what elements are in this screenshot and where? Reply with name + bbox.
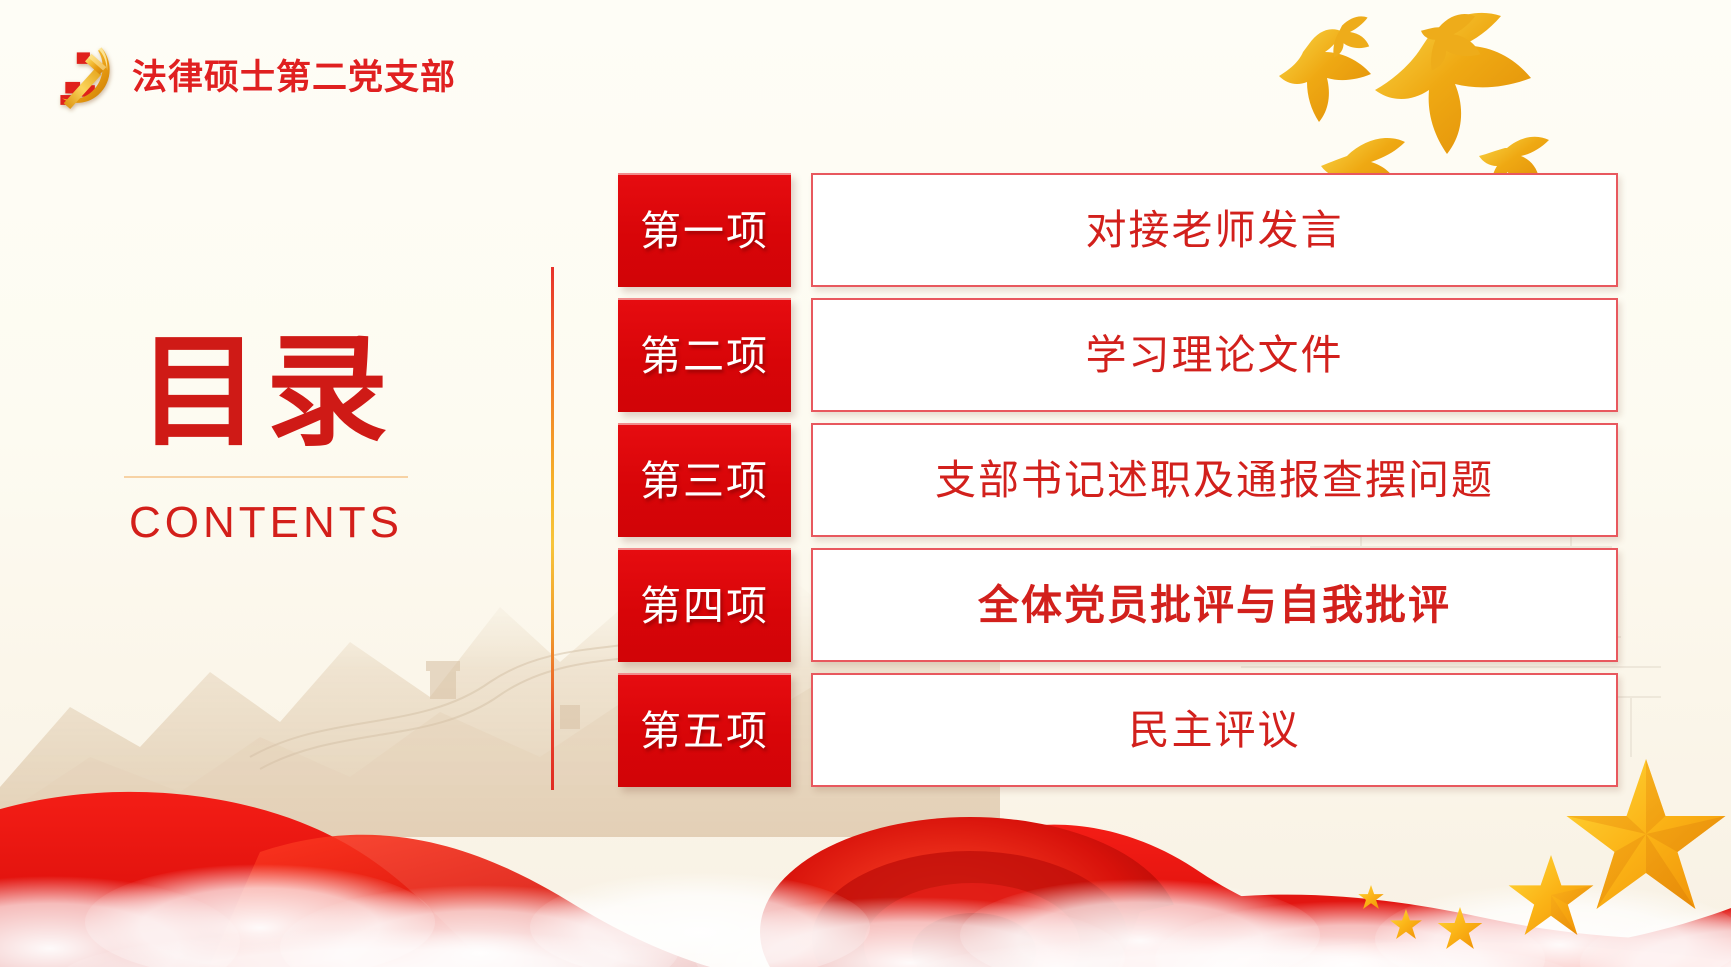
contents-title-box-4[interactable]: 全体党员批评与自我批评 — [811, 548, 1618, 662]
row-spacer — [618, 412, 1618, 423]
contents-title-label-2: 学习理论文件 — [1086, 335, 1344, 376]
contents-row-3[interactable]: 第三项 支部书记述职及通报查摆问题 — [618, 423, 1618, 537]
contents-row-5[interactable]: 第五项 民主评议 — [618, 673, 1618, 787]
title-divider-rule — [124, 476, 408, 478]
row-gap — [791, 423, 811, 537]
contents-index-label-3: 第三项 — [640, 461, 769, 502]
page-title-cn: 目录 — [116, 330, 416, 454]
contents-title-box-3[interactable]: 支部书记述职及通报查摆问题 — [811, 423, 1618, 537]
flying-doves-small-icon — [1326, 0, 1516, 80]
page-title-en: CONTENTS — [116, 498, 416, 548]
contents-index-label-4: 第四项 — [640, 586, 769, 627]
contents-row-1[interactable]: 第一项 对接老师发言 — [618, 173, 1618, 287]
contents-index-label-5: 第五项 — [640, 711, 769, 752]
row-gap — [791, 548, 811, 662]
contents-title-box-5[interactable]: 民主评议 — [811, 673, 1618, 787]
contents-title-box-1[interactable]: 对接老师发言 — [811, 173, 1618, 287]
contents-row-4[interactable]: 第四项 全体党员批评与自我批评 — [618, 548, 1618, 662]
row-gap — [791, 298, 811, 412]
brand-logo: 法律硕士第二党支部 — [44, 36, 456, 118]
contents-title-label-5: 民主评议 — [1129, 710, 1301, 751]
contents-title-label-1: 对接老师发言 — [1086, 210, 1344, 251]
contents-index-badge-3[interactable]: 第三项 — [618, 423, 791, 537]
row-gap — [791, 173, 811, 287]
contents-index-badge-4[interactable]: 第四项 — [618, 548, 791, 662]
row-spacer — [618, 537, 1618, 548]
contents-title-box-2[interactable]: 学习理论文件 — [811, 298, 1618, 412]
contents-title-label-4: 全体党员批评与自我批评 — [978, 585, 1451, 626]
slide-canvas: 法律硕士第二党支部 目录 CONTENTS 第一项 对接老师发言 第二项 学习理… — [0, 0, 1731, 967]
page-title-block: 目录 CONTENTS — [116, 330, 416, 548]
contents-list: 第一项 对接老师发言 第二项 学习理论文件 第三项 支部书记述职及通报查摆 — [618, 173, 1618, 787]
contents-index-label-2: 第二项 — [640, 336, 769, 377]
row-spacer — [618, 287, 1618, 298]
contents-index-badge-1[interactable]: 第一项 — [618, 173, 791, 287]
contents-index-badge-2[interactable]: 第二项 — [618, 298, 791, 412]
contents-index-badge-5[interactable]: 第五项 — [618, 673, 791, 787]
row-spacer — [618, 662, 1618, 673]
org-name: 法律硕士第二党支部 — [132, 60, 456, 95]
contents-index-label-1: 第一项 — [640, 211, 769, 252]
vertical-gradient-divider-icon — [551, 267, 554, 790]
contents-title-label-3: 支部书记述职及通报查摆问题 — [935, 460, 1494, 501]
contents-row-2[interactable]: 第二项 学习理论文件 — [618, 298, 1618, 412]
party-emblem-hammer-sickle-icon — [44, 36, 126, 118]
row-gap — [791, 673, 811, 787]
